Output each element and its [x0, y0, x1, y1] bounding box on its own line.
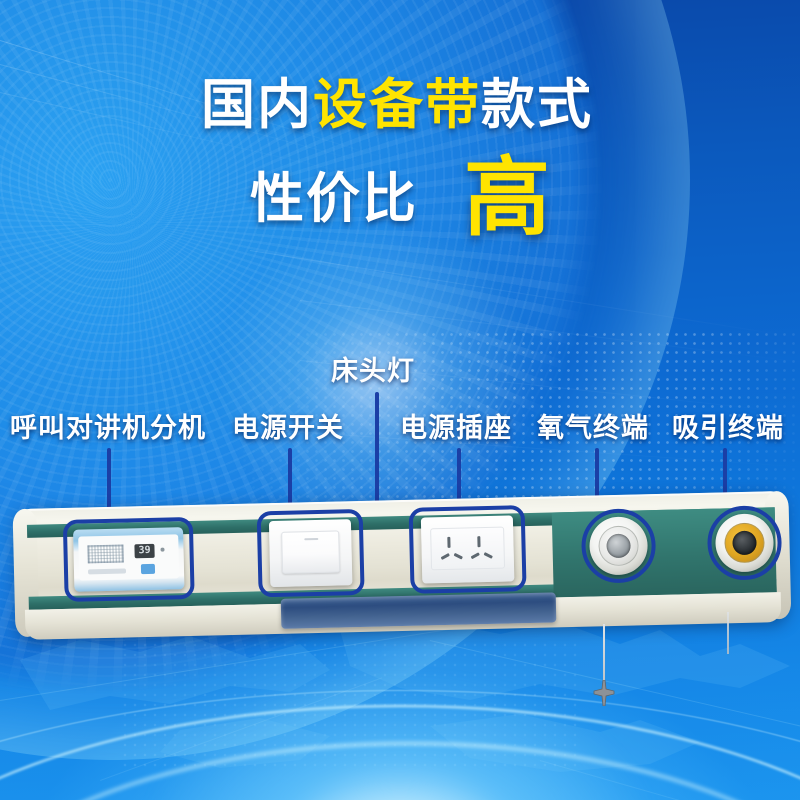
headline-emphasis: 高	[464, 158, 550, 240]
headline-part-2: 设备带	[313, 75, 481, 135]
highlight-box-intercom	[63, 517, 195, 602]
secondary-cord	[727, 612, 729, 654]
callout-label-suction: 吸引终端	[672, 415, 784, 442]
headline-part-3: 款式	[481, 75, 593, 135]
headline-block: 国内设备带款式 性价比 高	[0, 78, 800, 240]
headline-line-2: 性价比 高	[0, 158, 800, 240]
callout-label-oxygen: 氧气终端	[537, 415, 649, 442]
headline-part-1: 国内	[201, 75, 313, 135]
callout-label-switch: 电源开关	[232, 415, 344, 442]
headline-subtext: 性价比	[250, 172, 418, 226]
pull-cord-weight[interactable]	[590, 680, 618, 706]
highlight-box-socket	[409, 505, 527, 594]
callout-label-bedlamp: 床头灯	[331, 358, 415, 385]
bed-head-unit-panel: 39	[18, 492, 786, 642]
highlight-box-switch	[257, 509, 365, 597]
callout-label-intercom: 呼叫对讲机分机	[10, 415, 206, 442]
callout-label-socket: 电源插座	[400, 415, 512, 442]
advertisement-banner: 国内设备带款式 性价比 高 呼叫对讲机分机 电源开关 床头灯 电源插座 氧气终端…	[0, 0, 800, 800]
headline-line-1: 国内设备带款式	[0, 78, 800, 132]
